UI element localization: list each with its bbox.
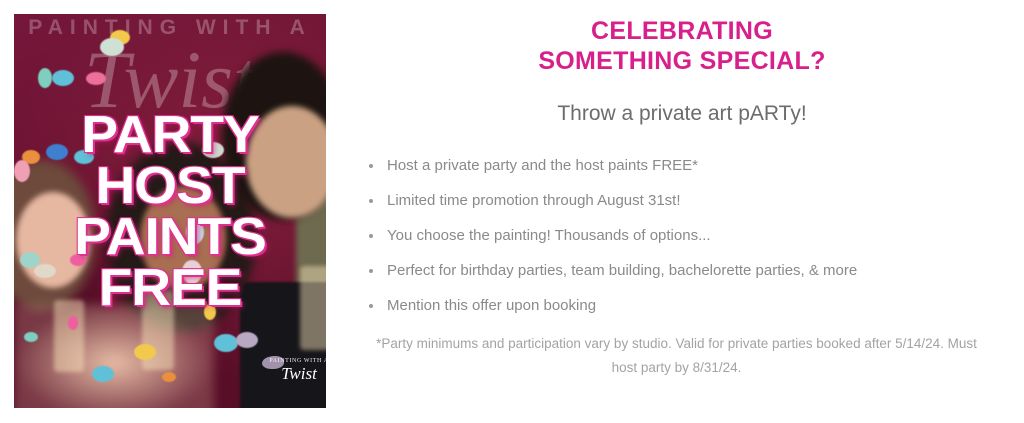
photo-headline-line-2: HOST: [14, 161, 326, 212]
page-title: CELEBRATING SOMETHING SPECIAL?: [340, 0, 1024, 76]
subheadline: Throw a private art pARTy!: [340, 101, 1024, 127]
painting-with-a-twist-logo: PAINTING WITH A Twist: [260, 358, 326, 404]
raised-hands-group: [14, 304, 214, 408]
list-item: You choose the painting! Thousands of op…: [367, 227, 1024, 245]
confetti-dot: [92, 366, 114, 382]
list-item-label: Perfect for birthday parties, team build…: [387, 262, 857, 279]
list-item: Mention this offer upon booking: [367, 297, 1024, 315]
confetti-dot: [38, 68, 52, 88]
headline-line-2: SOMETHING SPECIAL?: [340, 46, 1024, 76]
confetti-dot: [236, 332, 258, 348]
confetti-dot: [52, 70, 74, 86]
confetti-dot: [68, 316, 78, 330]
confetti-dot: [162, 372, 176, 382]
list-item: Host a private party and the host paints…: [367, 157, 1024, 175]
photo-overlay-headline: PARTY HOST PAINTS FREE: [14, 110, 326, 314]
headline-line-1: CELEBRATING: [340, 16, 1024, 46]
wall-signage-text: PAINTING WITH A: [14, 16, 326, 40]
promo-banner: Twist PAINTING WITH A: [0, 0, 1024, 423]
apron-logo-top-text: PAINTING WITH A: [260, 358, 326, 364]
photo-headline-line-4: FREE: [14, 263, 326, 314]
confetti-dot: [134, 344, 156, 360]
list-item: Limited time promotion through August 31…: [367, 192, 1024, 210]
confetti-dot: [214, 334, 238, 352]
confetti-dot: [100, 38, 124, 56]
confetti-dot: [24, 332, 38, 342]
confetti-dot: [86, 72, 106, 85]
party-host-paints-free-photo: Twist PAINTING WITH A: [14, 14, 326, 408]
list-item-label: Limited time promotion through August 31…: [387, 192, 681, 209]
photo-headline-line-3: PAINTS: [14, 212, 326, 263]
promo-benefits-list: Host a private party and the host paints…: [367, 157, 1024, 315]
list-item-label: Host a private party and the host paints…: [387, 157, 698, 174]
list-item-label: Mention this offer upon booking: [387, 297, 596, 314]
disclaimer-text: *Party minimums and participation vary b…: [365, 332, 988, 380]
photo-headline-line-1: PARTY: [14, 110, 326, 161]
list-item-label: You choose the painting! Thousands of op…: [387, 227, 711, 244]
promo-photo-column: Twist PAINTING WITH A: [0, 0, 340, 423]
promo-copy-column: CELEBRATING SOMETHING SPECIAL? Throw a p…: [340, 0, 1024, 423]
list-item: Perfect for birthday parties, team build…: [367, 262, 1024, 280]
